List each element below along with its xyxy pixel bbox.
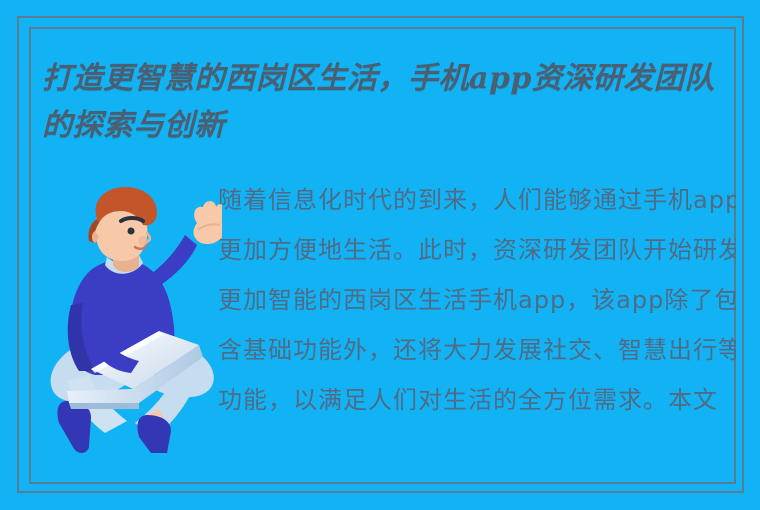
article-card: 打造更智慧的西岗区生活，手机app资深研发团队的探索与创新 随着信息化时代的到来… (29, 27, 736, 484)
article-body-text: 随着信息化时代的到来，人们能够通过手机app更加方便地生活。此时，资深研发团队开… (218, 175, 736, 425)
illustration-svg (47, 185, 222, 453)
waving-arm (147, 201, 222, 289)
person-with-laptop-illustration (47, 185, 222, 453)
head-group (88, 187, 157, 272)
article-title: 打造更智慧的西岗区生活，手机app资深研发团队的探索与创新 (42, 55, 732, 149)
